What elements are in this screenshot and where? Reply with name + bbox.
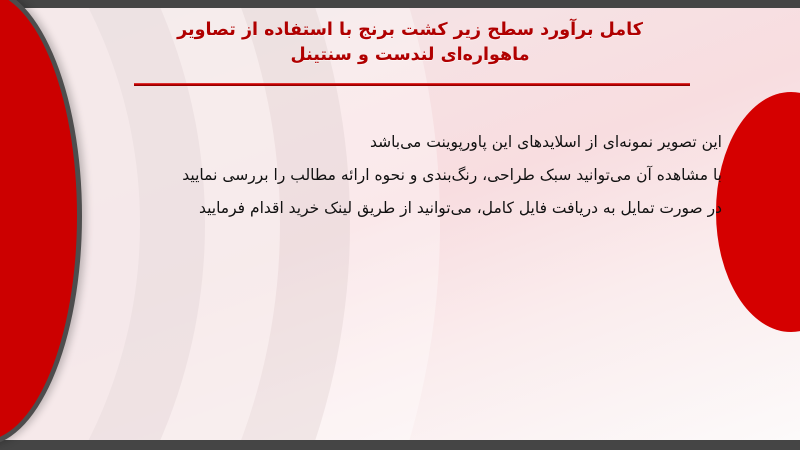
slide-canvas: کامل برآورد سطح زیر کشت برنج با استفاده … bbox=[0, 8, 800, 440]
title-line-2: ماهواره‌ای لندست و سنتینل bbox=[110, 43, 710, 68]
slide-title: کامل برآورد سطح زیر کشت برنج با استفاده … bbox=[110, 18, 710, 68]
body-line-1: این تصویر نمونه‌ای از اسلایدهای این پاور… bbox=[62, 126, 722, 159]
body-line-2: با مشاهده آن می‌توانید سبک طراحی، رنگ‌بن… bbox=[62, 159, 722, 192]
presentation-slide: کامل برآورد سطح زیر کشت برنج با استفاده … bbox=[0, 0, 800, 450]
title-underline-rule bbox=[134, 83, 690, 86]
body-line-3: در صورت تمایل به دریافت فایل کامل، می‌تو… bbox=[62, 192, 722, 225]
slide-body-text: این تصویر نمونه‌ای از اسلایدهای این پاور… bbox=[62, 126, 722, 225]
title-line-1: کامل برآورد سطح زیر کشت برنج با استفاده … bbox=[110, 18, 710, 43]
